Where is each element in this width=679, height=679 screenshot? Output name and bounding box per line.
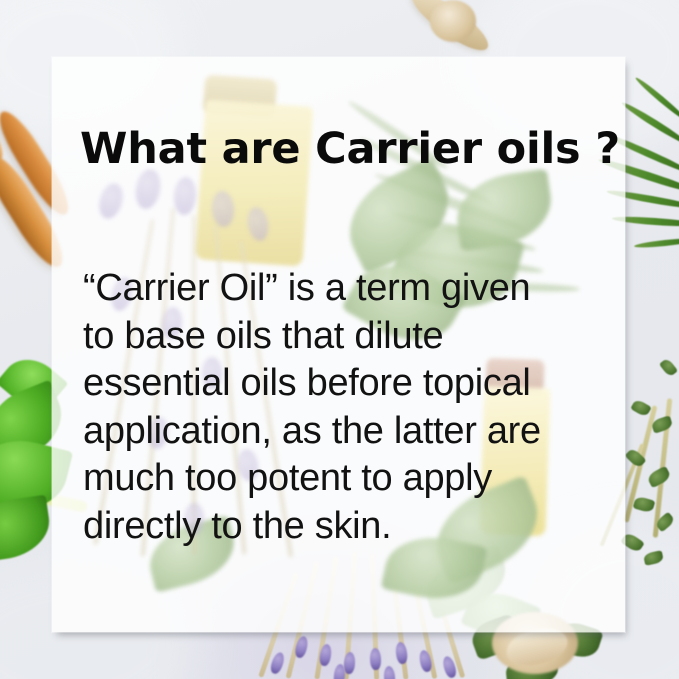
body-line: directly to the skin.: [83, 503, 623, 551]
graphic-canvas: What are Carrier oils ? “Carrier Oil” is…: [0, 0, 679, 679]
body-line: “Carrier Oil” is a term given: [83, 265, 623, 313]
body-line: essential oils before topical: [83, 360, 623, 408]
page-title: What are Carrier oils ?: [80, 125, 620, 173]
body-line: to base oils that dilute: [83, 313, 623, 361]
lavender-bud: [370, 648, 382, 670]
lavender-bud: [269, 651, 287, 675]
thyme-leaf: [630, 398, 652, 417]
body-paragraph: “Carrier Oil” is a term given to base oi…: [83, 265, 623, 550]
mint-leaf: [0, 495, 54, 564]
thyme-leaf: [659, 357, 678, 377]
thyme-leaf: [633, 495, 656, 513]
body-line: much too potent to apply: [83, 455, 623, 503]
lavender-bud: [383, 666, 396, 679]
content-card: What are Carrier oils ? “Carrier Oil” is…: [52, 57, 625, 632]
lavender-bud: [395, 641, 409, 664]
body-line: application, as the latter are: [83, 408, 623, 456]
rosemary-needle: [634, 237, 679, 249]
twine-knot: [430, 0, 476, 42]
card-text-block: What are Carrier oils ? “Carrier Oil” is…: [52, 57, 625, 632]
